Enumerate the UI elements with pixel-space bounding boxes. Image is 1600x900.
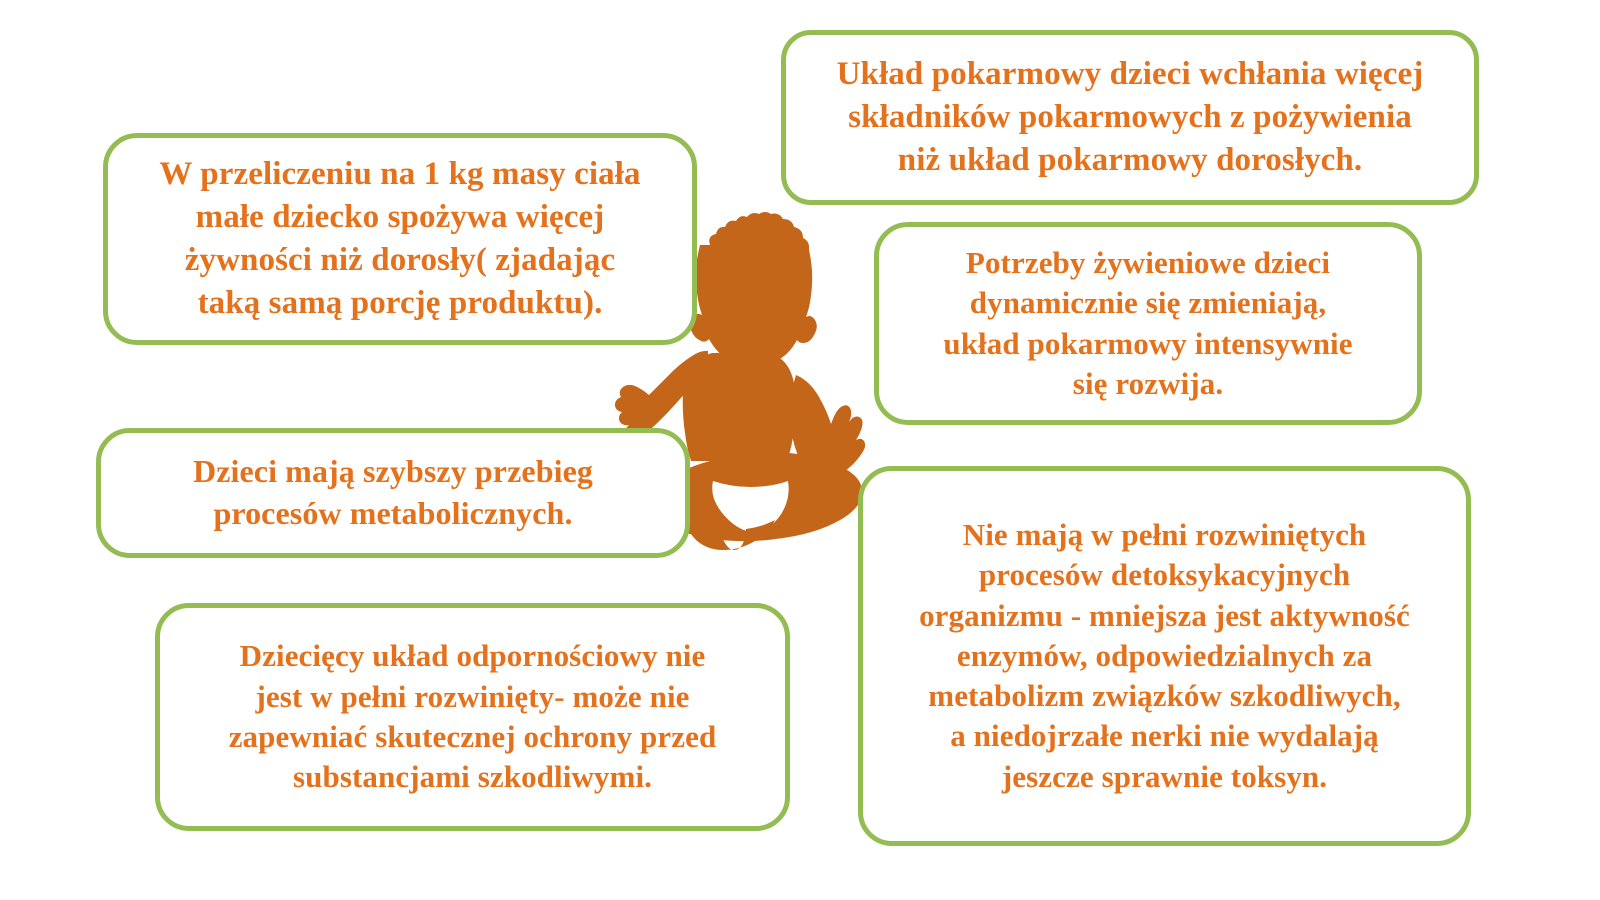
callout-intake: W przeliczeniu na 1 kg masy ciała małe d…: [103, 133, 697, 345]
callout-metabolism-text: Dzieci mają szybszy przebieg procesów me…: [101, 451, 685, 534]
callout-detoxification-text: Nie mają w pełni rozwiniętych procesów d…: [863, 515, 1466, 797]
callout-immunity: Dziecięcy układ odpornościowy nie jest w…: [155, 603, 790, 831]
callout-absorption: Układ pokarmowy dzieci wchłania więcej s…: [781, 30, 1479, 205]
callout-nutritional-needs-text: Potrzeby żywieniowe dzieci dynamicznie s…: [879, 243, 1417, 404]
callout-immunity-text: Dziecięcy układ odpornościowy nie jest w…: [160, 636, 785, 797]
infographic-canvas: W przeliczeniu na 1 kg masy ciała małe d…: [0, 0, 1600, 900]
callout-intake-text: W przeliczeniu na 1 kg masy ciała małe d…: [108, 153, 692, 325]
callout-absorption-text: Układ pokarmowy dzieci wchłania więcej s…: [786, 53, 1474, 182]
callout-nutritional-needs: Potrzeby żywieniowe dzieci dynamicznie s…: [874, 222, 1422, 425]
callout-metabolism: Dzieci mają szybszy przebieg procesów me…: [96, 428, 690, 558]
callout-detoxification: Nie mają w pełni rozwiniętych procesów d…: [858, 466, 1471, 846]
